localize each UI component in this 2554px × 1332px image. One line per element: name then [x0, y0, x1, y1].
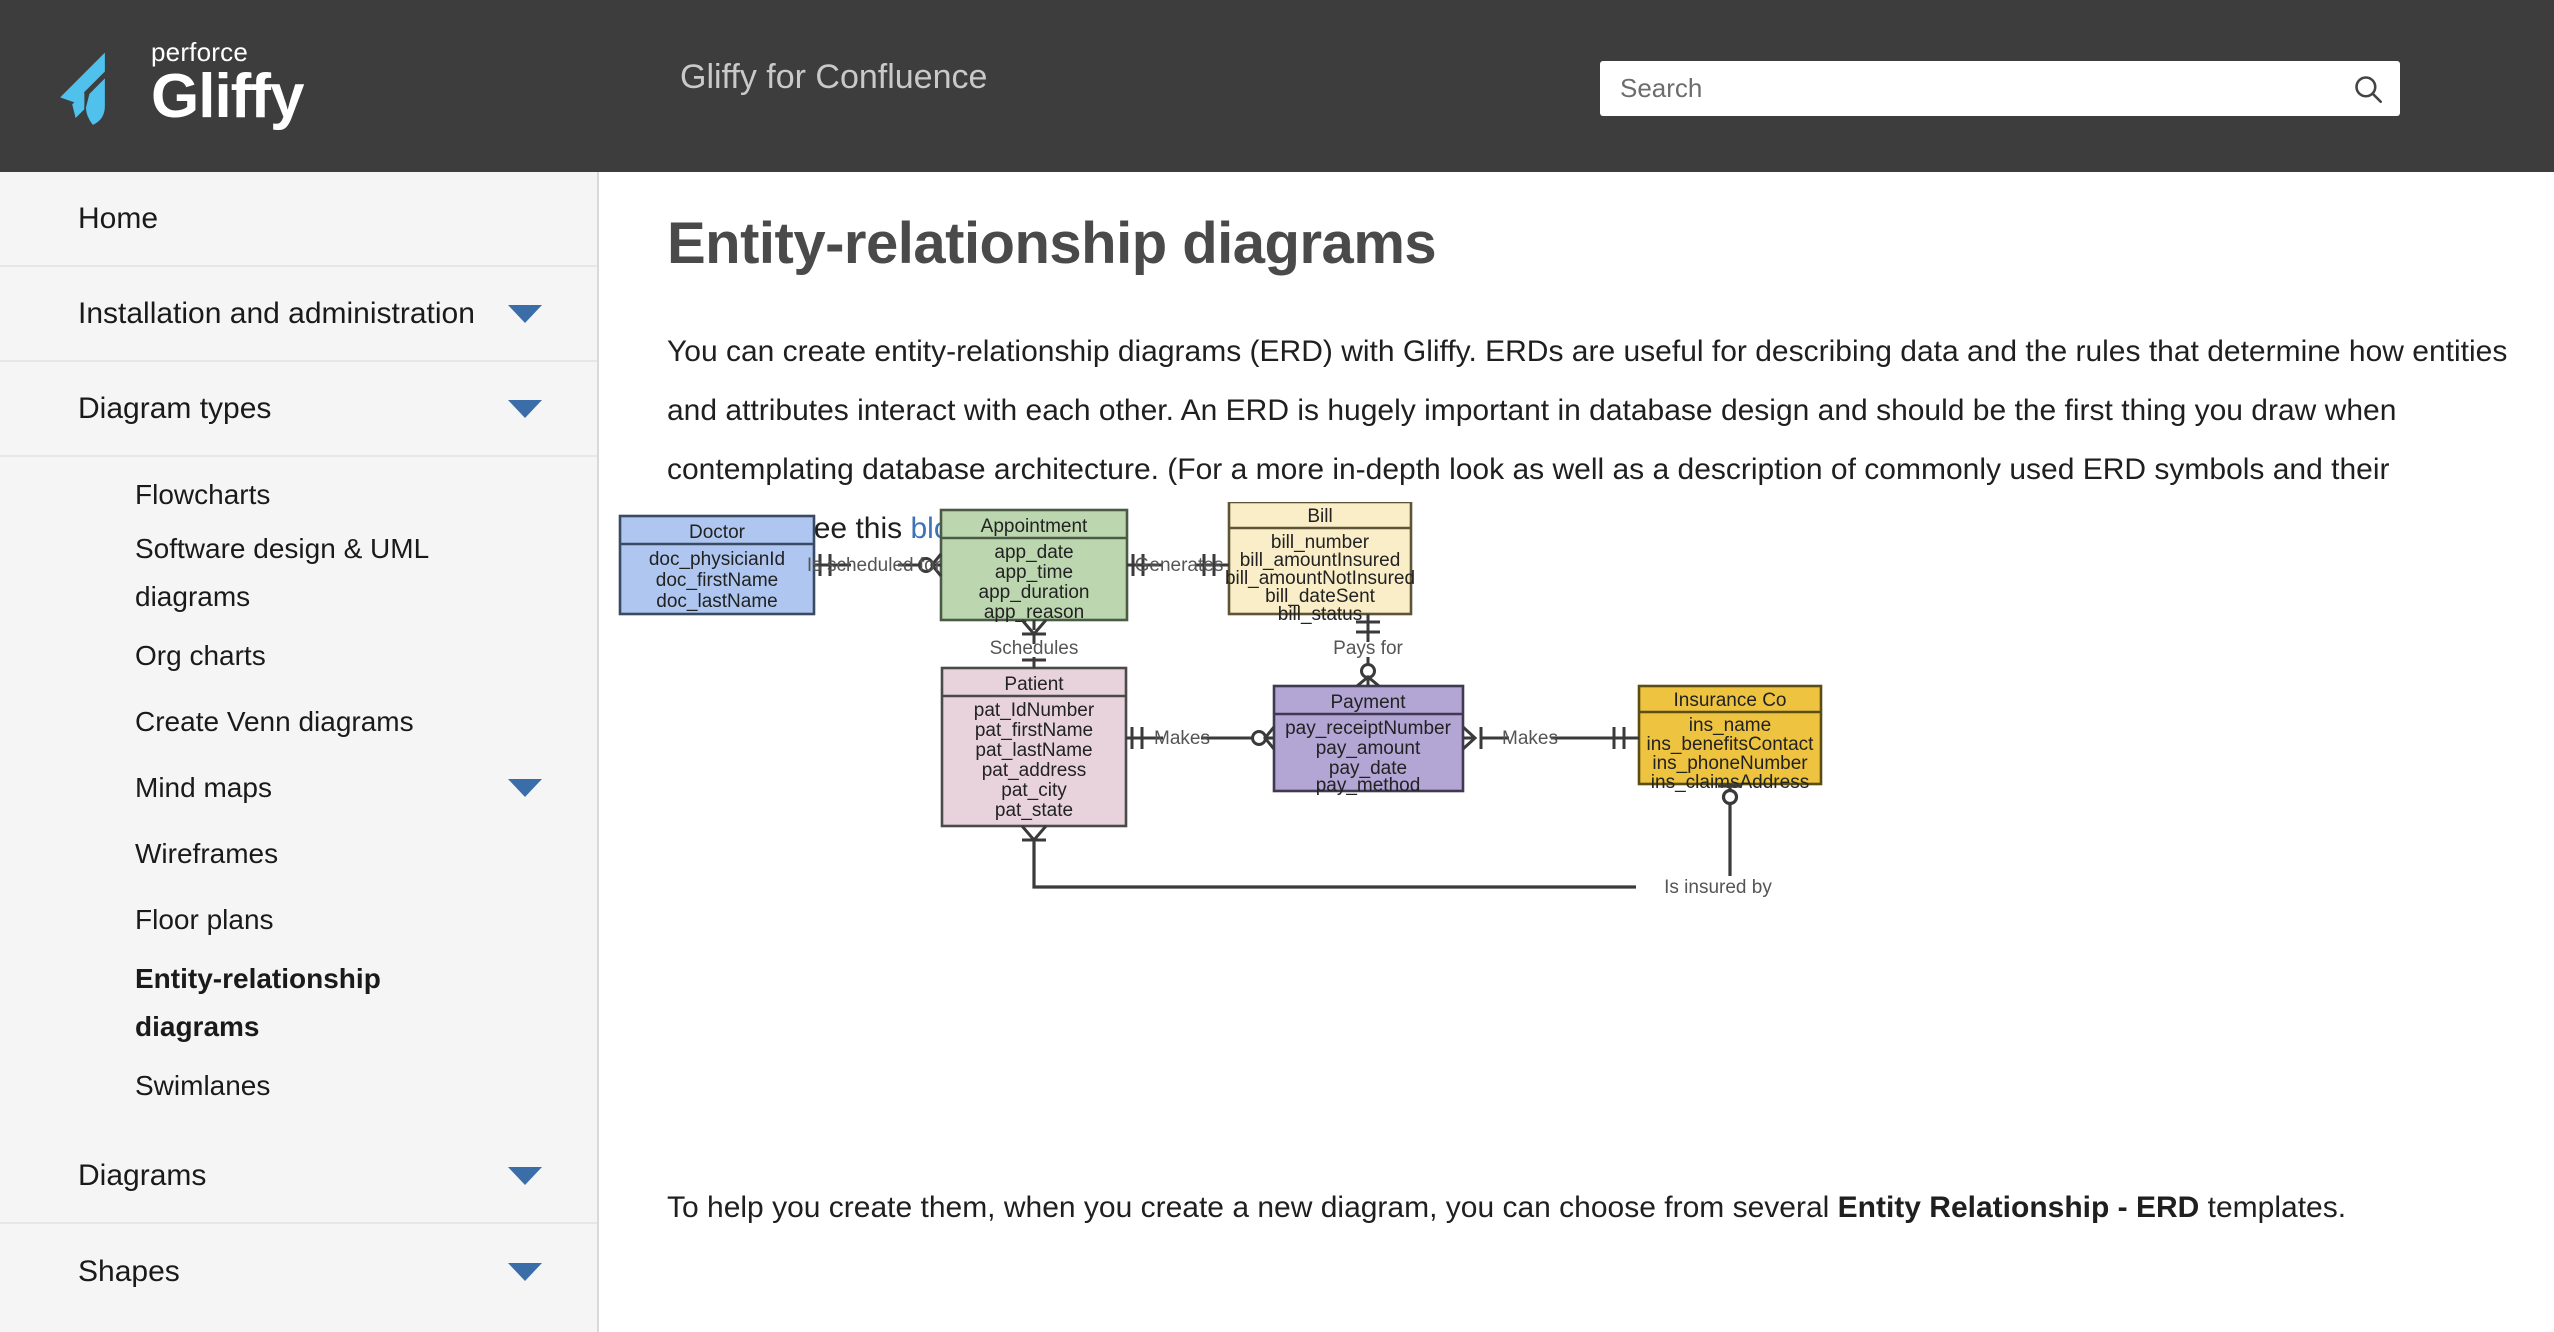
erd-attribute: app_time: [995, 562, 1073, 583]
sidebar-item-label: Diagrams: [78, 1159, 206, 1193]
erd-relationship-label: Pays for: [1333, 638, 1403, 659]
sidebar-item-home[interactable]: Home: [0, 172, 597, 267]
sidebar-item-label: Wireframes: [135, 830, 278, 878]
erd-entity-title: Doctor: [689, 522, 746, 543]
erd-entity-payment[interactable]: Payment pay_receiptNumber pay_amount pay…: [1274, 686, 1463, 796]
sidebar-navigation[interactable]: Home Installation and administration Dia…: [0, 172, 599, 1332]
chevron-down-icon[interactable]: [508, 1263, 542, 1281]
chevron-down-icon[interactable]: [508, 400, 542, 418]
erd-attribute: pay_method: [1316, 775, 1421, 796]
sidebar-item-create-venn-diagrams[interactable]: Create Venn diagrams: [0, 689, 597, 755]
site-header: perforce Gliffy Gliffy for Confluence: [0, 0, 2554, 172]
erd-entity-insurance-co[interactable]: Insurance Co ins_name ins_benefitsContac…: [1639, 686, 1821, 793]
erd-entity-title: Insurance Co: [1673, 690, 1786, 711]
erd-attribute: ins_benefitsContact: [1647, 734, 1815, 755]
erd-attribute: ins_phoneNumber: [1652, 753, 1808, 774]
sidebar-item-diagrams[interactable]: Diagrams: [0, 1129, 597, 1224]
erd-attribute: app_date: [994, 542, 1073, 563]
erd-relationship-label: Is scheduled for: [807, 555, 942, 576]
erd-attribute: app_reason: [984, 602, 1084, 623]
sidebar-item-label: Entity-relationship diagrams: [135, 955, 435, 1051]
erd-relationship-label: Makes: [1154, 728, 1210, 749]
erd-entity-title: Appointment: [981, 516, 1088, 537]
erd-attribute: doc_firstName: [656, 570, 779, 591]
sidebar-item-label: Floor plans: [135, 896, 274, 944]
gliffy-logo-mark: [55, 44, 141, 130]
erd-relationship-label: Schedules: [990, 638, 1079, 659]
outro-text-part1: To help you create them, when you create…: [667, 1191, 1838, 1224]
erd-attribute: pat_city: [1001, 780, 1067, 801]
sidebar-item-installation-and-administration[interactable]: Installation and administration: [0, 267, 597, 362]
chevron-down-icon[interactable]: [508, 779, 542, 797]
erd-entity-title: Payment: [1331, 692, 1407, 713]
outro-bold-text: Entity Relationship - ERD: [1838, 1191, 2200, 1224]
erd-attribute: app_duration: [979, 582, 1090, 603]
sidebar-item-shapes[interactable]: Shapes: [0, 1224, 597, 1319]
erd-attribute: bill_status: [1278, 604, 1363, 625]
sidebar-item-swimlanes[interactable]: Swimlanes: [0, 1053, 597, 1119]
erd-attribute: pat_state: [995, 800, 1073, 821]
sidebar-item-entity-relationship-diagrams[interactable]: Entity-relationship diagrams: [0, 953, 597, 1053]
erd-attribute: pat_address: [982, 760, 1087, 781]
page-title: Entity-relationship diagrams: [667, 210, 1436, 277]
erd-entity-doctor[interactable]: Doctor doc_physicianId doc_firstName doc…: [620, 516, 814, 614]
sidebar-item-label: Org charts: [135, 632, 266, 680]
sidebar-item-label: Software design & UML diagrams: [135, 525, 465, 621]
sidebar-item-floor-plans[interactable]: Floor plans: [0, 887, 597, 953]
site-title: Gliffy for Confluence: [680, 58, 987, 97]
sidebar-item-diagram-types[interactable]: Diagram types: [0, 362, 597, 457]
sidebar-item-label: Create Venn diagrams: [135, 698, 414, 746]
erd-attribute: doc_physicianId: [649, 549, 785, 570]
sidebar-item-org-charts[interactable]: Org charts: [0, 623, 597, 689]
chevron-down-icon[interactable]: [508, 305, 542, 323]
brand-gliffy: Gliffy: [151, 66, 303, 128]
erd-attribute: pat_firstName: [975, 720, 1093, 741]
sidebar-item-label: Swimlanes: [135, 1062, 270, 1110]
search-button[interactable]: [2336, 61, 2400, 116]
sidebar-item-label: Diagram types: [78, 392, 271, 426]
erd-attribute: pat_IdNumber: [974, 700, 1095, 721]
gliffy-logo[interactable]: perforce Gliffy: [55, 38, 303, 130]
sidebar-item-software-design-uml-diagrams[interactable]: Software design & UML diagrams: [0, 523, 597, 623]
erd-entity-title: Patient: [1004, 674, 1064, 695]
search-input[interactable]: [1600, 61, 2336, 116]
sidebar-item-label: Shapes: [78, 1255, 180, 1289]
erd-entity-appointment[interactable]: Appointment app_date app_time app_durati…: [941, 510, 1127, 623]
search-icon: [2351, 72, 2385, 106]
erd-attribute: doc_lastName: [656, 591, 777, 612]
sidebar-item-label: Mind maps: [135, 764, 272, 812]
sidebar-item-flowcharts[interactable]: Flowcharts: [0, 457, 597, 523]
sidebar-item-label: Home: [78, 202, 158, 236]
erd-relationship-label: Generates: [1135, 555, 1224, 576]
outro-text-part2: templates.: [2199, 1191, 2346, 1224]
main-content: Entity-relationship diagrams You can cre…: [601, 172, 2554, 1332]
erd-attribute: pay_receiptNumber: [1285, 718, 1451, 739]
sidebar-item-wireframes[interactable]: Wireframes: [0, 821, 597, 887]
erd-entity-bill[interactable]: Bill bill_number bill_amountInsured bill…: [1225, 502, 1415, 625]
chevron-down-icon[interactable]: [508, 1167, 542, 1185]
search-box[interactable]: [1600, 61, 2400, 116]
erd-entity-title: Bill: [1307, 506, 1332, 527]
erd-attribute: pay_amount: [1316, 738, 1421, 759]
outro-paragraph: To help you create them, when you create…: [667, 1188, 2497, 1228]
sidebar-item-mind-maps[interactable]: Mind maps: [0, 755, 597, 821]
erd-diagram: Doctor doc_physicianId doc_firstName doc…: [601, 502, 2554, 1102]
sidebar-item-label: Flowcharts: [135, 471, 270, 519]
erd-relationship-label: Makes: [1502, 728, 1558, 749]
erd-attribute: pat_lastName: [975, 740, 1092, 761]
sidebar-item-label: Installation and administration: [78, 297, 475, 331]
erd-relationship-is-insured-by-path: [1034, 784, 1799, 887]
erd-entity-patient[interactable]: Patient pat_IdNumber pat_firstName pat_l…: [942, 668, 1126, 826]
erd-relationship-label-visible: Is insured by: [1664, 877, 1772, 898]
erd-attribute: ins_name: [1689, 715, 1771, 736]
